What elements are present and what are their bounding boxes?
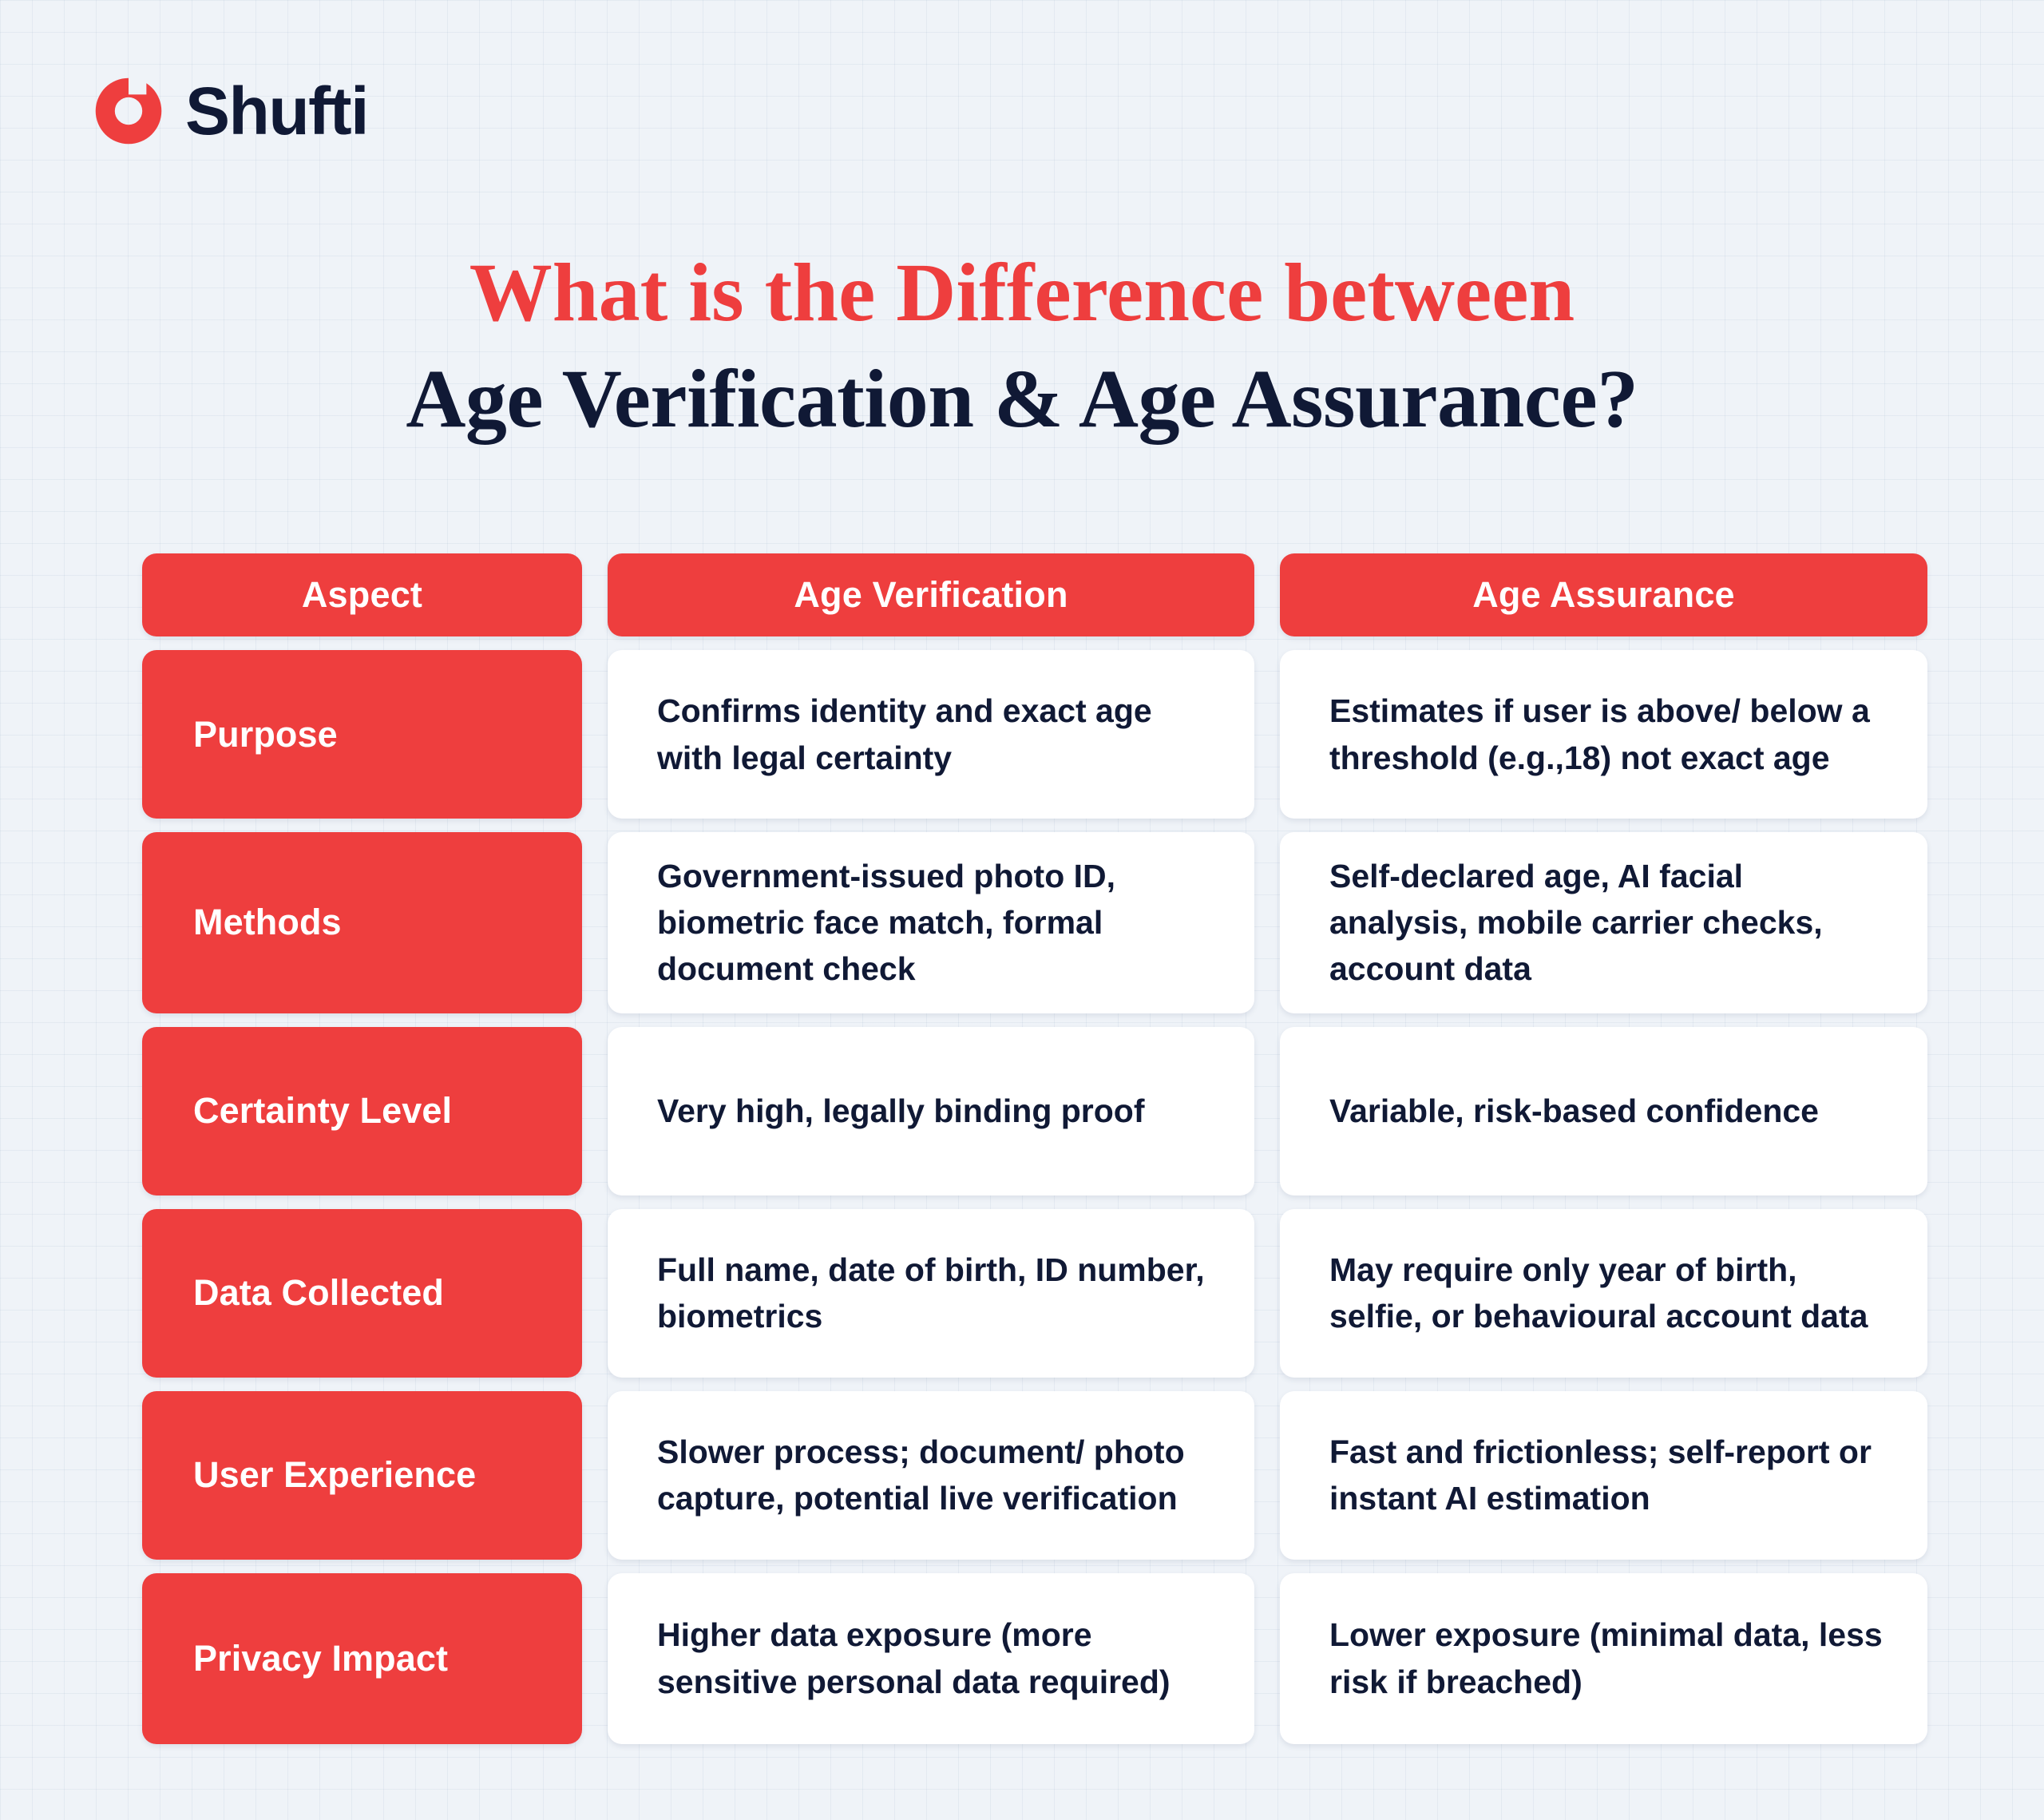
cell-privacy-impact-age-verification: Higher data exposure (more sensitive per… [608,1573,1254,1744]
cell-certainty-level-age-assurance: Variable, risk-based confidence [1280,1027,1927,1195]
page-title: What is the Difference between Age Verif… [0,240,2044,452]
table-row: Privacy Impact Higher data exposure (mor… [142,1573,1902,1744]
cell-user-experience-age-assurance: Fast and frictionless; self-report or in… [1280,1391,1927,1560]
brand-lockup: Shufti [94,77,368,145]
row-label-data-collected: Data Collected [142,1209,582,1378]
cell-data-collected-age-verification: Full name, date of birth, ID number, bio… [608,1209,1254,1378]
cell-data-collected-age-assurance: May require only year of birth, selfie, … [1280,1209,1927,1378]
cell-methods-age-assurance: Self-declared age, AI facial analysis, m… [1280,832,1927,1013]
shufti-ring-logo-icon [94,77,163,145]
table-row: User Experience Slower process; document… [142,1391,1902,1560]
column-header-age-assurance: Age Assurance [1280,553,1927,636]
cell-purpose-age-verification: Confirms identity and exact age with leg… [608,650,1254,819]
cell-user-experience-age-verification: Slower process; document/ photo capture,… [608,1391,1254,1560]
row-label-purpose: Purpose [142,650,582,819]
cell-privacy-impact-age-assurance: Lower exposure (minimal data, less risk … [1280,1573,1927,1744]
row-label-certainty-level: Certainty Level [142,1027,582,1195]
brand-name: Shufti [185,77,368,145]
cell-certainty-level-age-verification: Very high, legally binding proof [608,1027,1254,1195]
table-row: Purpose Confirms identity and exact age … [142,650,1902,819]
comparison-table: Aspect Age Verification Age Assurance Pu… [142,553,1902,1744]
page-title-line-1: What is the Difference between [0,240,2044,346]
cell-purpose-age-assurance: Estimates if user is above/ below a thre… [1280,650,1927,819]
infographic-page: Shufti What is the Difference between Ag… [0,0,2044,1820]
table-row: Methods Government-issued photo ID, biom… [142,832,1902,1013]
table-row: Certainty Level Very high, legally bindi… [142,1027,1902,1195]
table-row: Data Collected Full name, date of birth,… [142,1209,1902,1378]
row-label-user-experience: User Experience [142,1391,582,1560]
row-label-methods: Methods [142,832,582,1013]
column-header-age-verification: Age Verification [608,553,1254,636]
page-title-line-2: Age Verification & Age Assurance? [0,346,2044,452]
cell-methods-age-verification: Government-issued photo ID, biometric fa… [608,832,1254,1013]
column-header-aspect: Aspect [142,553,582,636]
table-header-row: Aspect Age Verification Age Assurance [142,553,1902,636]
row-label-privacy-impact: Privacy Impact [142,1573,582,1744]
